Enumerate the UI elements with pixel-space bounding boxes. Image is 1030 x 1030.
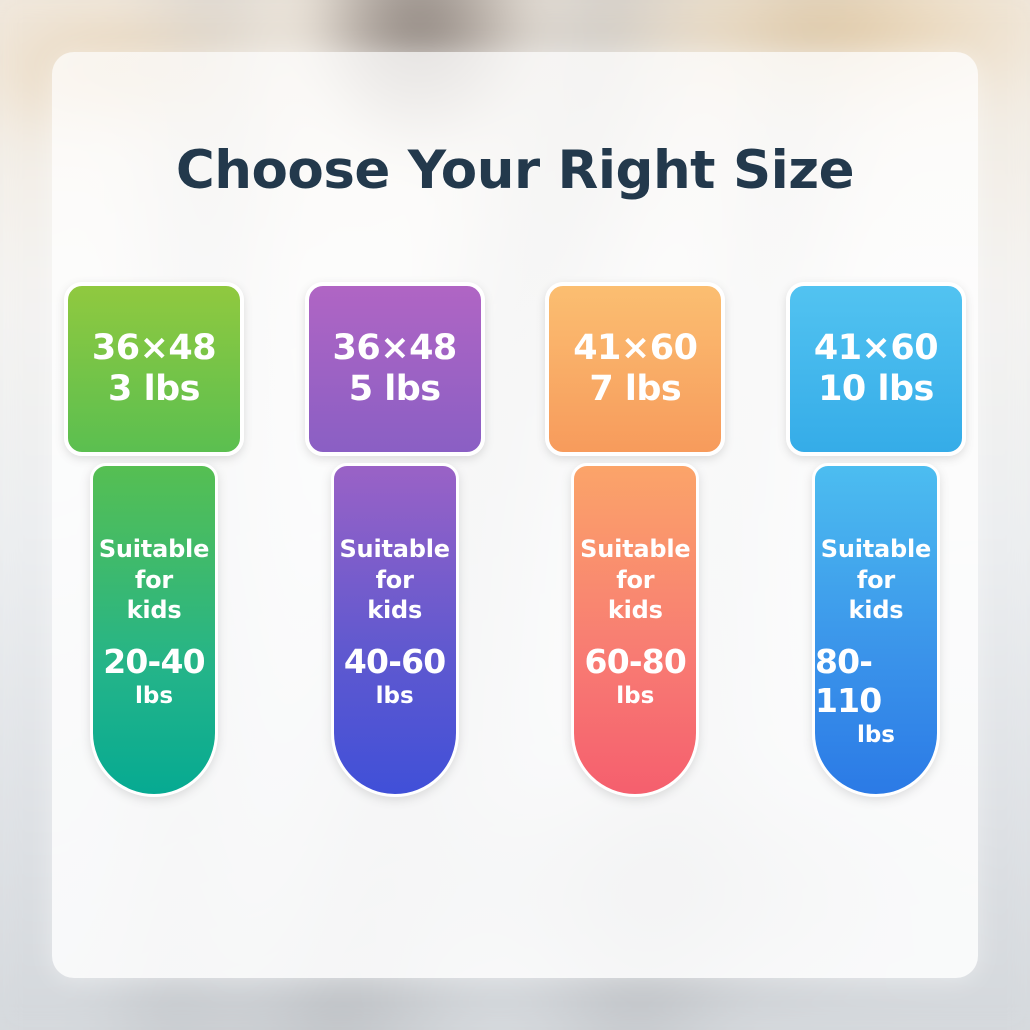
suitable-label-line-2: for [616, 565, 654, 596]
suitability-pill-2[interactable]: Suitable for kids 40-60 lbs [331, 463, 459, 797]
suitable-label-line-1: Suitable [821, 534, 931, 565]
size-card-dimensions: 41×60 [814, 328, 938, 369]
size-column-4[interactable]: 41×60 10 lbs Suitable for kids 80-110 lb… [786, 282, 966, 797]
weight-range-value: 20-40 [103, 642, 205, 681]
size-card-2[interactable]: 36×48 5 lbs [305, 282, 485, 456]
size-card-4[interactable]: 41×60 10 lbs [786, 282, 966, 456]
size-column-1[interactable]: 36×48 3 lbs Suitable for kids 20-40 lbs [64, 282, 244, 797]
suitable-label-line-3: kids [849, 595, 904, 626]
page-title: Choose Your Right Size [0, 140, 1030, 201]
size-guide-infographic: Choose Your Right Size 36×48 3 lbs Suita… [0, 0, 1030, 1030]
suitable-label-line-1: Suitable [99, 534, 209, 565]
suitable-label-line-1: Suitable [580, 534, 690, 565]
weight-range-value: 60-80 [585, 642, 687, 681]
size-card-weight: 3 lbs [108, 369, 200, 410]
suitability-pill-1[interactable]: Suitable for kids 20-40 lbs [90, 463, 218, 797]
size-card-dimensions: 36×48 [333, 328, 457, 369]
weight-range-unit: lbs [376, 683, 414, 709]
size-column-list: 36×48 3 lbs Suitable for kids 20-40 lbs … [64, 282, 966, 797]
weight-range-value: 40-60 [344, 642, 446, 681]
size-card-dimensions: 36×48 [92, 328, 216, 369]
size-card-dimensions: 41×60 [573, 328, 697, 369]
size-card-1[interactable]: 36×48 3 lbs [64, 282, 244, 456]
suitable-label-line-3: kids [367, 595, 422, 626]
size-column-3[interactable]: 41×60 7 lbs Suitable for kids 60-80 lbs [545, 282, 725, 797]
suitable-label-line-2: for [376, 565, 414, 596]
size-card-weight: 10 lbs [818, 369, 934, 410]
size-column-2[interactable]: 36×48 5 lbs Suitable for kids 40-60 lbs [305, 282, 485, 797]
suitable-label-line-1: Suitable [339, 534, 449, 565]
weight-range-value: 80-110 [815, 642, 937, 720]
size-card-weight: 7 lbs [589, 369, 681, 410]
suitable-label-line-3: kids [127, 595, 182, 626]
size-card-weight: 5 lbs [349, 369, 441, 410]
weight-range-unit: lbs [857, 722, 895, 748]
suitability-pill-3[interactable]: Suitable for kids 60-80 lbs [571, 463, 699, 797]
weight-range-unit: lbs [616, 683, 654, 709]
weight-range-unit: lbs [135, 683, 173, 709]
suitable-label-line-2: for [857, 565, 895, 596]
size-card-3[interactable]: 41×60 7 lbs [545, 282, 725, 456]
suitable-label-line-2: for [135, 565, 173, 596]
suitability-pill-4[interactable]: Suitable for kids 80-110 lbs [812, 463, 940, 797]
suitable-label-line-3: kids [608, 595, 663, 626]
